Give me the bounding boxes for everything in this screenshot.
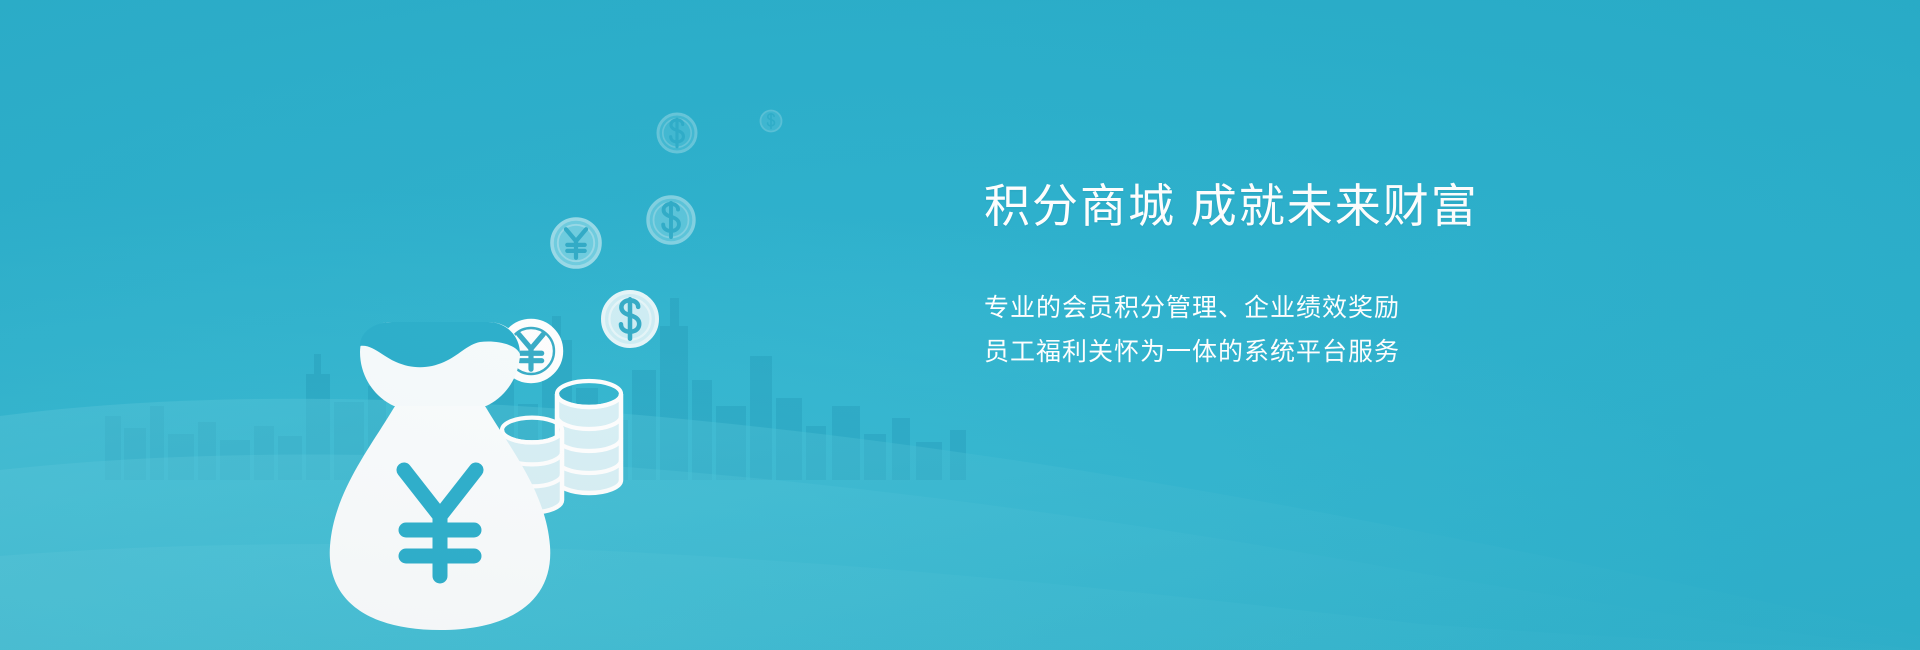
banner-subtitle-line-1: 专业的会员积分管理、企业绩效奖励 (984, 286, 1624, 330)
banner-subtitle-line-2: 员工福利关怀为一体的系统平台服务 (984, 330, 1624, 374)
floating-coin-dollar-mid (648, 197, 694, 243)
ground-wave-decoration (0, 320, 1920, 650)
floating-coin-dollar-lower (603, 292, 657, 346)
banner-headline: 积分商城 成就未来财富 (984, 178, 1624, 234)
banner-subtitle: 专业的会员积分管理、企业绩效奖励 员工福利关怀为一体的系统平台服务 (984, 286, 1624, 374)
floating-coin-dollar-upper (658, 114, 696, 152)
floating-coin-dollar-small (761, 111, 782, 132)
promo-banner: 积分商城 成就未来财富 专业的会员积分管理、企业绩效奖励 员工福利关怀为一体的系… (0, 0, 1920, 650)
banner-copy: 积分商城 成就未来财富 专业的会员积分管理、企业绩效奖励 员工福利关怀为一体的系… (984, 178, 1624, 374)
money-bag (330, 322, 551, 630)
floating-coin-yen-mid (552, 219, 600, 267)
money-illustration (300, 60, 820, 640)
coin-stack-back (557, 381, 621, 493)
